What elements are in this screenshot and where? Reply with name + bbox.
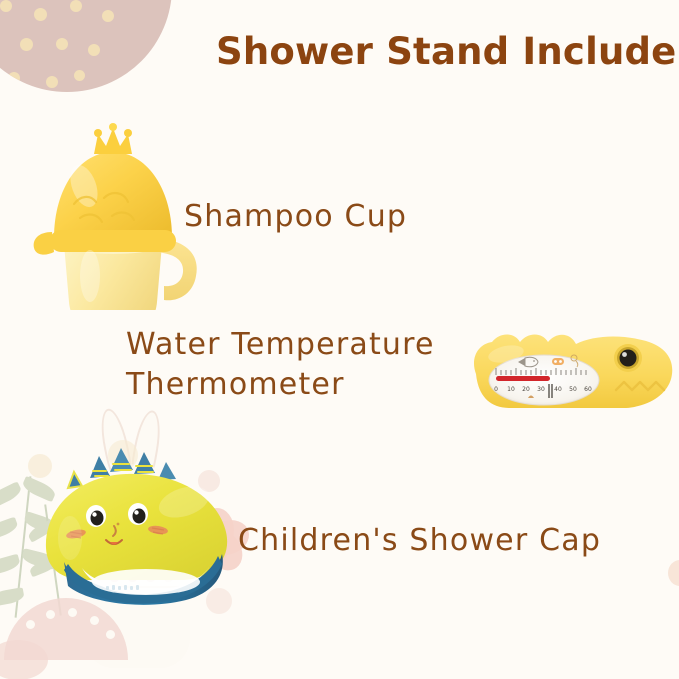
- svg-text:50: 50: [569, 386, 577, 393]
- dinosaur-shower-cap-icon: [34, 440, 246, 608]
- shampoo-cup-icon: [28, 120, 188, 280]
- shower-cap-label: Children's Shower Cap: [238, 521, 601, 561]
- thermometer-label-line2: Thermometer: [126, 365, 435, 405]
- page-title: Shower Stand Include: [216, 30, 676, 73]
- svg-text:20: 20: [522, 386, 530, 393]
- crocodile-thermometer-illustration: 0 10 20 30 40 50 60: [466, 318, 678, 418]
- crocodile-thermometer-icon: 0 10 20 30 40 50 60: [466, 318, 678, 418]
- svg-text:40: 40: [554, 386, 562, 393]
- thermometer-label: Water Temperature Thermometer: [126, 325, 435, 405]
- svg-text:0: 0: [494, 386, 498, 393]
- product-infographic: Shower Stand Include: [0, 0, 679, 679]
- svg-text:10: 10: [507, 386, 515, 393]
- corner-dome-decoration: [0, 0, 172, 92]
- shampoo-cup-label: Shampoo Cup: [184, 197, 407, 237]
- svg-text:30: 30: [537, 386, 545, 393]
- blob-decoration: [668, 560, 679, 586]
- shower-cap-illustration: [34, 440, 246, 608]
- svg-text:60: 60: [584, 386, 592, 393]
- thermometer-label-line1: Water Temperature: [126, 325, 435, 365]
- blob-decoration: [0, 640, 48, 679]
